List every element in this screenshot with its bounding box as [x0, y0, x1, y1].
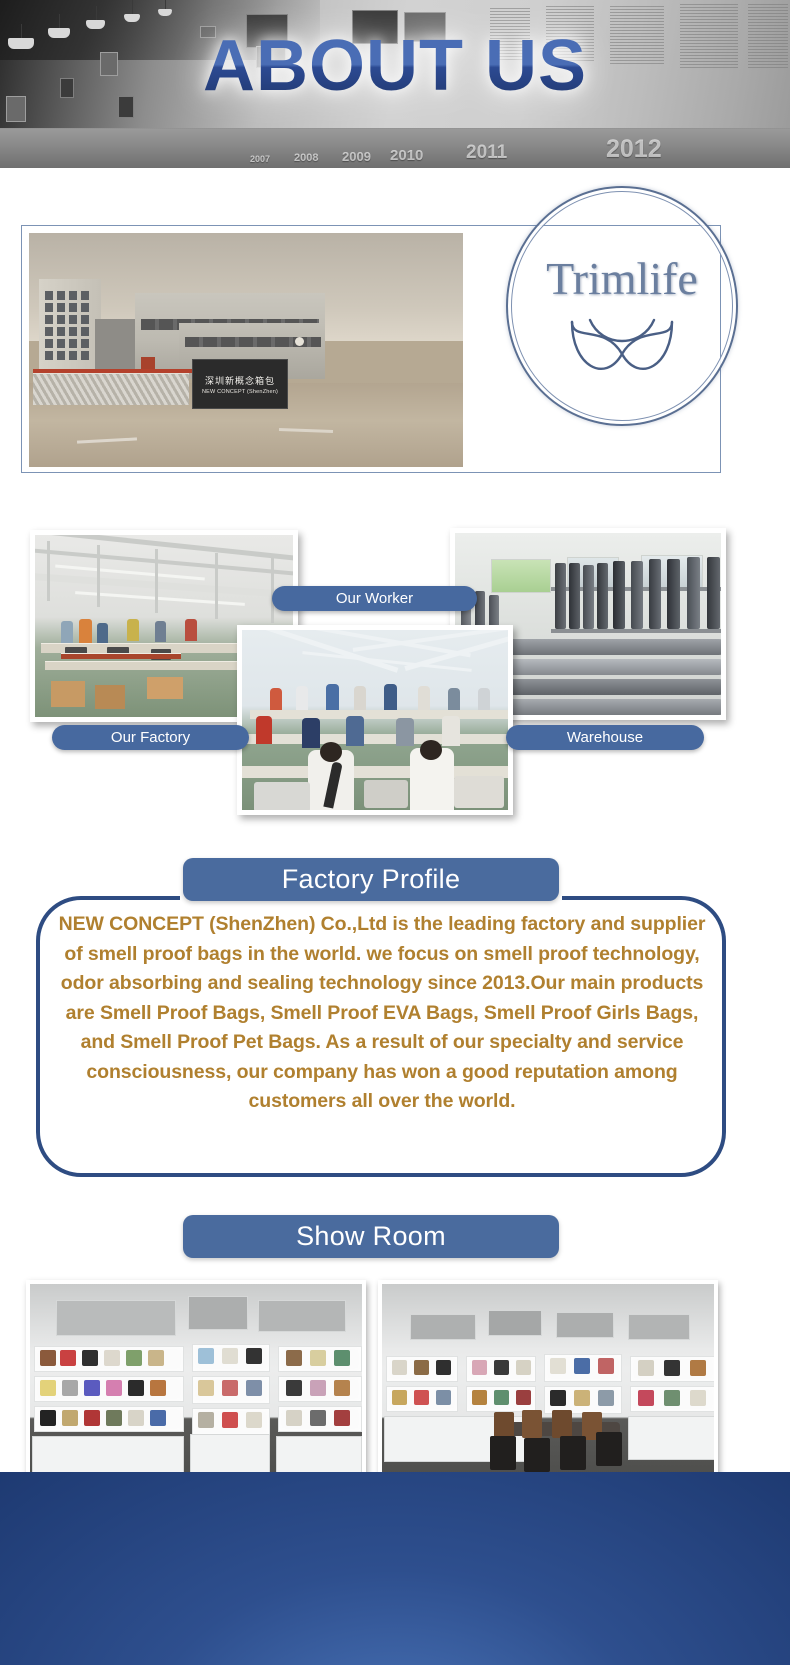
timeline-year: 2007 — [250, 154, 270, 164]
footer-band — [0, 1472, 790, 1665]
sign-chinese-text: 深圳新概念箱包 — [205, 374, 275, 387]
worker-interior — [242, 630, 508, 810]
ceiling-lamp-icon — [124, 14, 140, 22]
showroom-interior — [30, 1284, 362, 1498]
timeline-year: 2010 — [390, 147, 423, 164]
timeline-year: 2011 — [466, 142, 507, 164]
factory-exterior-photo: 深圳新概念箱包 NEW CONCEPT (ShenZhen) — [29, 233, 463, 467]
photo-collage: Our Factory Our Worker Warehouse — [0, 520, 790, 830]
trimlife-logo: Trimlife — [506, 186, 738, 426]
company-sign: 深圳新概念箱包 NEW CONCEPT (ShenZhen) — [192, 359, 288, 409]
workers-photo — [237, 625, 513, 815]
section-heading-factory-profile: Factory Profile — [183, 858, 559, 901]
page-title: ABOUT US — [0, 30, 790, 102]
logo-symbol-icon — [547, 314, 697, 397]
timeline-year: 2012 — [606, 135, 662, 164]
logo-wordmark: Trimlife — [506, 252, 738, 305]
timeline-year: 2008 — [294, 152, 318, 164]
header-banner: 2007 2008 2009 2010 2011 2012 ABOUT US — [0, 0, 790, 168]
factory-gate — [33, 373, 189, 405]
office-windows — [45, 291, 89, 360]
ceiling-lamp-icon — [158, 9, 172, 16]
collage-label-our-worker: Our Worker — [272, 586, 477, 611]
timeline-year-rail: 2007 2008 2009 2010 2011 2012 — [0, 128, 790, 168]
showroom-photo-1 — [26, 1280, 366, 1502]
fence-rail — [33, 369, 195, 373]
sign-english-text: NEW CONCEPT (ShenZhen) — [202, 389, 278, 395]
lamp-globe — [295, 337, 304, 346]
hero-frame: 深圳新概念箱包 NEW CONCEPT (ShenZhen) Trimlife — [21, 225, 721, 473]
timeline-year: 2009 — [342, 149, 371, 164]
collage-label-our-factory: Our Factory — [52, 725, 249, 750]
showroom-photo-2 — [378, 1280, 718, 1502]
about-us-page: 2007 2008 2009 2010 2011 2012 ABOUT US — [0, 0, 790, 1665]
section-heading-show-room: Show Room — [183, 1215, 559, 1258]
collage-label-warehouse: Warehouse — [506, 725, 704, 750]
showroom-meeting-interior — [382, 1284, 714, 1498]
factory-profile-text: NEW CONCEPT (ShenZhen) Co.,Ltd is the le… — [52, 910, 712, 1117]
ceiling-lamp-icon — [86, 20, 105, 29]
